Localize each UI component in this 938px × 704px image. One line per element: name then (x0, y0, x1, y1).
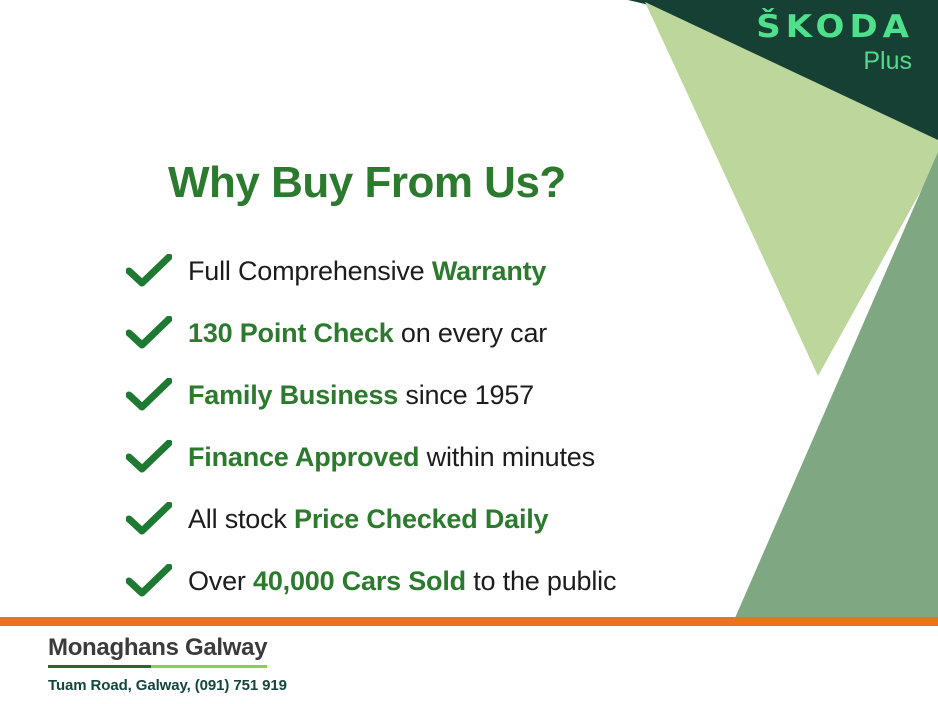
benefit-highlight: 40,000 Cars Sold (253, 566, 466, 596)
check-icon (126, 254, 172, 288)
check-icon (126, 440, 172, 474)
benefit-highlight: 130 Point Check (188, 318, 394, 348)
list-item-label: Finance Approved within minutes (188, 442, 595, 473)
benefit-post: to the public (466, 566, 616, 596)
dealer-name-underline (48, 665, 267, 668)
list-item: Family Business since 1957 (126, 364, 766, 426)
benefit-pre: Full Comprehensive (188, 256, 432, 286)
list-item: Over 40,000 Cars Sold to the public (126, 550, 766, 612)
check-icon (126, 564, 172, 598)
benefit-highlight: Price Checked Daily (294, 504, 548, 534)
list-item-label: Over 40,000 Cars Sold to the public (188, 566, 616, 597)
benefit-post: since 1957 (398, 380, 534, 410)
list-item: Finance Approved within minutes (126, 426, 766, 488)
page-title: Why Buy From Us? (168, 158, 566, 208)
footer: Monaghans Galway Tuam Road, Galway, (091… (48, 634, 287, 694)
list-item: Full Comprehensive Warranty (126, 240, 766, 302)
dealer-name: Monaghans Galway (48, 634, 267, 668)
check-icon (126, 316, 172, 350)
benefits-list: Full Comprehensive Warranty 130 Point Ch… (126, 240, 766, 612)
list-item-label: Family Business since 1957 (188, 380, 534, 411)
list-item-label: 130 Point Check on every car (188, 318, 547, 349)
check-icon (126, 502, 172, 536)
benefit-highlight: Finance Approved (188, 442, 419, 472)
dealer-address: Tuam Road, Galway, (091) 751 919 (48, 677, 287, 694)
promotional-slide: ŠKODA Plus Why Buy From Us? Full Compreh… (0, 0, 938, 704)
benefit-post: on every car (394, 318, 547, 348)
benefit-pre: All stock (188, 504, 294, 534)
benefit-pre: Over (188, 566, 253, 596)
skoda-wordmark: ŠKODA (756, 11, 914, 44)
benefit-post: within minutes (419, 442, 595, 472)
orange-divider (0, 617, 938, 626)
list-item: 130 Point Check on every car (126, 302, 766, 364)
check-icon (126, 378, 172, 412)
plus-label: Plus (756, 48, 912, 76)
list-item-label: All stock Price Checked Daily (188, 504, 548, 535)
underline-segment-light (151, 665, 267, 668)
benefit-highlight: Family Business (188, 380, 398, 410)
list-item: All stock Price Checked Daily (126, 488, 766, 550)
benefit-highlight: Warranty (432, 256, 546, 286)
skoda-plus-logo: ŠKODA Plus (756, 10, 914, 75)
underline-segment-dark (48, 665, 151, 668)
list-item-label: Full Comprehensive Warranty (188, 256, 546, 287)
